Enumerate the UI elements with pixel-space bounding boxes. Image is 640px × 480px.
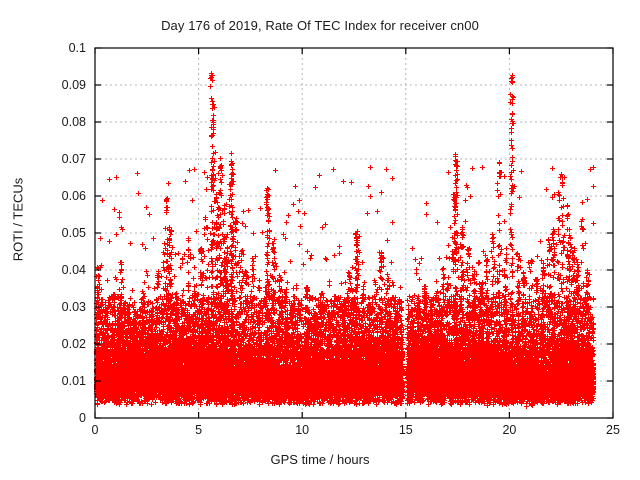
y-tick-label: 0.03 [26, 301, 86, 314]
y-tick-label: 0.06 [26, 190, 86, 203]
y-tick-label: 0.07 [26, 153, 86, 166]
y-axis-label: ROTI / TECUs [11, 140, 26, 300]
x-tick-label: 5 [169, 424, 229, 437]
x-tick-label: 10 [272, 424, 332, 437]
x-tick-label: 15 [376, 424, 436, 437]
y-tick-label: 0 [26, 412, 86, 425]
y-tick-label: 0.05 [26, 227, 86, 240]
y-tick-label: 0.09 [26, 79, 86, 92]
y-tick-label: 0.02 [26, 338, 86, 351]
y-tick-label: 0.04 [26, 264, 86, 277]
x-tick-label: 20 [479, 424, 539, 437]
y-tick-label: 0.1 [26, 42, 86, 55]
chart-title: Day 176 of 2019, Rate Of TEC Index for r… [0, 18, 640, 33]
x-axis-label: GPS time / hours [0, 452, 640, 467]
y-tick-label: 0.08 [26, 116, 86, 129]
plot-canvas [0, 0, 640, 480]
roti-scatter-chart: Day 176 of 2019, Rate Of TEC Index for r… [0, 0, 640, 480]
x-tick-label: 0 [65, 424, 125, 437]
y-tick-label: 0.01 [26, 375, 86, 388]
x-tick-label: 25 [583, 424, 640, 437]
